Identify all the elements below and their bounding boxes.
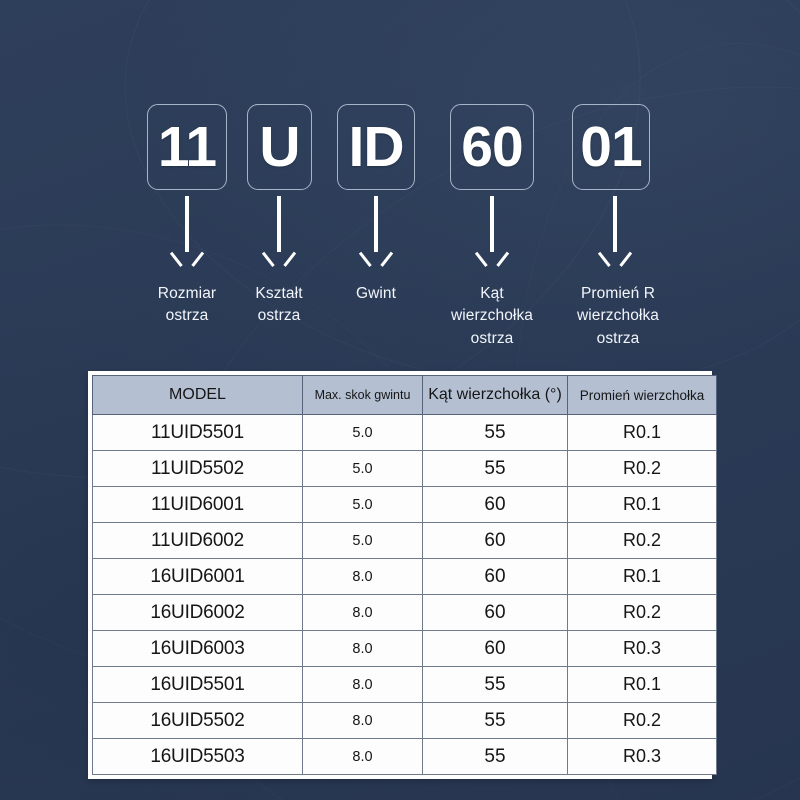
cell-radius: R0.2 [568,523,717,559]
cell-pitch: 8.0 [303,739,423,775]
cell-radius: R0.1 [568,667,717,703]
cell-angle: 60 [423,487,568,523]
page-root: 11 Rozmiar ostrza U Kształt ostrza ID Gw… [0,0,800,800]
code-segment-box-1: 11 [147,104,227,190]
spec-table-head: MODEL Max. skok gwintu Kąt wierzchołka (… [93,376,717,415]
cell-model: 11UID5501 [93,415,303,451]
segment-arrow-5 [602,196,628,268]
table-row[interactable]: 16UID6001 8.0 60 R0.1 [93,559,717,595]
arrow-head [482,248,502,268]
arrow-head [366,248,386,268]
table-row[interactable]: 16UID5502 8.0 55 R0.2 [93,703,717,739]
cell-model: 16UID6003 [93,631,303,667]
cell-angle: 60 [423,631,568,667]
segment-arrow-2 [266,196,292,268]
column-header-radius: Promień wierzchołka [568,376,717,415]
cell-angle: 55 [423,739,568,775]
cell-pitch: 8.0 [303,595,423,631]
spec-table: MODEL Max. skok gwintu Kąt wierzchołka (… [92,375,717,775]
segment-arrow-1 [174,196,200,268]
arrow-head [605,248,625,268]
code-segment-box-2: U [247,104,312,190]
segment-arrow-3 [363,196,389,268]
column-header-pitch: Max. skok gwintu [303,376,423,415]
cell-pitch: 8.0 [303,559,423,595]
arrow-head [177,248,197,268]
segment-arrow-4 [479,196,505,268]
spec-table-container: MODEL Max. skok gwintu Kąt wierzchołka (… [88,371,712,779]
cell-radius: R0.3 [568,631,717,667]
cell-radius: R0.2 [568,595,717,631]
cell-pitch: 5.0 [303,451,423,487]
column-header-angle: Kąt wierzchołka (°) [423,376,568,415]
cell-radius: R0.1 [568,559,717,595]
table-row[interactable]: 11UID5502 5.0 55 R0.2 [93,451,717,487]
code-segment-box-4: 60 [450,104,534,190]
cell-pitch: 8.0 [303,703,423,739]
cell-pitch: 5.0 [303,415,423,451]
cell-angle: 60 [423,523,568,559]
code-breakdown-diagram: 11 Rozmiar ostrza U Kształt ostrza ID Gw… [0,0,800,365]
segment-label-4: Kąt wierzchołka ostrza [432,283,552,350]
cell-model: 16UID6002 [93,595,303,631]
table-row[interactable]: 16UID5501 8.0 55 R0.1 [93,667,717,703]
table-row[interactable]: 16UID6003 8.0 60 R0.3 [93,631,717,667]
arrow-shaft [185,196,188,252]
cell-angle: 55 [423,703,568,739]
cell-model: 11UID6001 [93,487,303,523]
cell-angle: 60 [423,559,568,595]
cell-angle: 55 [423,667,568,703]
table-header-row: MODEL Max. skok gwintu Kąt wierzchołka (… [93,376,717,415]
arrow-shaft [490,196,493,252]
segment-label-3: Gwint [316,283,436,305]
arrow-shaft [374,196,377,252]
cell-model: 11UID6002 [93,523,303,559]
cell-pitch: 8.0 [303,631,423,667]
column-header-model: MODEL [93,376,303,415]
table-row[interactable]: 11UID6001 5.0 60 R0.1 [93,487,717,523]
spec-table-body: 11UID5501 5.0 55 R0.1 11UID5502 5.0 55 R… [93,415,717,775]
arrow-shaft [613,196,616,252]
cell-radius: R0.1 [568,415,717,451]
arrow-head [269,248,289,268]
cell-model: 16UID5501 [93,667,303,703]
table-row[interactable]: 11UID6002 5.0 60 R0.2 [93,523,717,559]
code-segment-box-3: ID [337,104,415,190]
cell-radius: R0.1 [568,487,717,523]
table-row[interactable]: 11UID5501 5.0 55 R0.1 [93,415,717,451]
cell-pitch: 5.0 [303,487,423,523]
cell-angle: 55 [423,451,568,487]
cell-model: 16UID5502 [93,703,303,739]
cell-radius: R0.2 [568,703,717,739]
cell-radius: R0.3 [568,739,717,775]
cell-radius: R0.2 [568,451,717,487]
cell-model: 16UID6001 [93,559,303,595]
arrow-shaft [277,196,280,252]
cell-model: 11UID5502 [93,451,303,487]
table-row[interactable]: 16UID6002 8.0 60 R0.2 [93,595,717,631]
segment-label-5: Promień R wierzchołka ostrza [555,283,681,350]
code-segment-box-5: 01 [572,104,650,190]
cell-model: 16UID5503 [93,739,303,775]
cell-pitch: 8.0 [303,667,423,703]
cell-pitch: 5.0 [303,523,423,559]
cell-angle: 55 [423,415,568,451]
cell-angle: 60 [423,595,568,631]
table-row[interactable]: 16UID5503 8.0 55 R0.3 [93,739,717,775]
